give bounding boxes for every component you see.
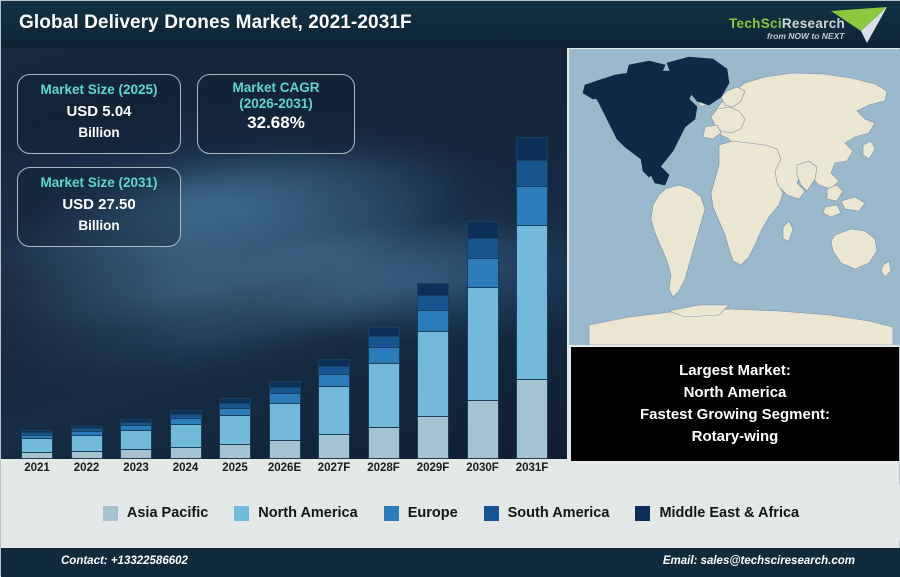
legend-item-asia-pacific[interactable]: Asia Pacific <box>103 505 208 521</box>
bar-segment-asia-pacific <box>269 440 301 459</box>
x-axis: 202120222023202420252026E2027F2028F2029F… <box>1 459 567 485</box>
legend-swatch-europe <box>384 506 399 521</box>
x-axis-label-2027F: 2027F <box>306 462 362 474</box>
stat-card-market-cagr: Market CAGR (2026-2031) 32.68% <box>197 74 355 154</box>
bar-segment-middle-east-africa <box>467 221 499 238</box>
bar-segment-north-america <box>318 386 350 434</box>
x-axis-label-2029F: 2029F <box>405 462 461 474</box>
bar-segment-europe <box>269 393 301 402</box>
bar-segment-middle-east-africa <box>516 137 548 159</box>
legend-swatch-middle-east-africa <box>635 506 650 521</box>
legend-label-north-america: North America <box>258 505 357 521</box>
bar-segment-north-america <box>417 331 449 415</box>
legend-item-europe[interactable]: Europe <box>384 505 458 521</box>
card-title: Market CAGR <box>198 80 354 96</box>
bar-2023 <box>120 419 152 459</box>
stat-card-market-size-2031: Market Size (2031) USD 27.50 Billion <box>17 167 181 247</box>
card-title: Market Size (2025) <box>18 82 180 98</box>
card-title: Market Size (2031) <box>18 175 180 191</box>
bar-2026E <box>269 381 301 459</box>
bar-segment-north-america <box>120 430 152 449</box>
bar-2029F <box>417 283 449 459</box>
key-insights-box: Largest Market: North America Fastest Gr… <box>571 347 899 461</box>
x-axis-label-2024: 2024 <box>158 462 214 474</box>
largest-market-value: North America <box>684 383 787 403</box>
fastest-segment-value: Rotary-wing <box>692 427 779 447</box>
bar-segment-europe <box>318 374 350 386</box>
bar-segment-middle-east-africa <box>368 327 400 337</box>
bar-2022 <box>71 426 103 459</box>
card-value: USD 27.50 <box>18 196 180 214</box>
bar-segment-asia-pacific <box>71 451 103 459</box>
card-value: 32.68% <box>198 113 354 133</box>
bar-2021 <box>21 430 53 459</box>
bar-segment-north-america <box>269 403 301 440</box>
bar-segment-europe <box>219 408 251 415</box>
bar-segment-asia-pacific <box>467 400 499 459</box>
legend-label-asia-pacific: Asia Pacific <box>127 505 208 521</box>
bar-segment-asia-pacific <box>417 416 449 459</box>
bar-segment-south-america <box>516 160 548 187</box>
bar-segment-asia-pacific <box>368 427 400 459</box>
bar-segment-europe <box>417 310 449 331</box>
legend-label-europe: Europe <box>408 505 458 521</box>
bar-segment-north-america <box>21 438 53 452</box>
bar-segment-north-america <box>516 225 548 378</box>
logo-wordmark: TechSciResearch <box>729 16 845 31</box>
logo-research: Research <box>782 16 845 31</box>
header-bar: Global Delivery Drones Market, 2021-2031… <box>1 1 900 48</box>
footer-bar: Contact: +13322586602 Email: sales@techs… <box>1 548 900 577</box>
bar-segment-asia-pacific <box>120 449 152 459</box>
bar-segment-north-america <box>170 424 202 447</box>
legend-swatch-south-america <box>484 506 499 521</box>
bar-segment-europe <box>516 186 548 225</box>
legend-item-north-america[interactable]: North America <box>234 505 357 521</box>
legend-label-middle-east-africa: Middle East & Africa <box>659 505 799 521</box>
legend-item-south-america[interactable]: South America <box>484 505 610 521</box>
bar-segment-asia-pacific <box>219 444 251 459</box>
world-map-svg <box>569 49 900 345</box>
logo-techsci: TechSci <box>729 16 782 31</box>
techsci-research-logo[interactable]: TechSciResearch from NOW to NEXT <box>725 4 893 46</box>
x-axis-label-2026E: 2026E <box>257 462 313 474</box>
bar-2024 <box>170 410 202 459</box>
bar-segment-asia-pacific <box>170 447 202 459</box>
x-axis-label-2022: 2022 <box>59 462 115 474</box>
card-unit: Billion <box>18 125 180 141</box>
bar-2027F <box>318 359 350 459</box>
bar-segment-asia-pacific <box>516 379 548 459</box>
bar-2025 <box>219 398 251 459</box>
stat-card-market-size-2025: Market Size (2025) USD 5.04 Billion <box>17 74 181 154</box>
bar-segment-south-america <box>368 336 400 347</box>
bar-segment-middle-east-africa <box>417 283 449 296</box>
legend-item-middle-east-africa[interactable]: Middle East & Africa <box>635 505 799 521</box>
card-value: USD 5.04 <box>18 103 180 121</box>
bar-2028F <box>368 327 400 459</box>
legend-swatch-asia-pacific <box>103 506 118 521</box>
fastest-segment-label: Fastest Growing Segment: <box>640 405 830 425</box>
x-axis-label-2031F: 2031F <box>504 462 560 474</box>
bar-segment-europe <box>467 258 499 287</box>
logo-tagline: from NOW to NEXT <box>767 31 844 41</box>
bar-2031F <box>516 137 548 459</box>
legend-label-south-america: South America <box>508 505 610 521</box>
largest-market-label: Largest Market: <box>679 361 791 381</box>
bar-segment-north-america <box>368 363 400 426</box>
bar-segment-asia-pacific <box>21 452 53 459</box>
legend-swatch-north-america <box>234 506 249 521</box>
bar-2030F <box>467 221 499 459</box>
bar-segment-north-america <box>467 287 499 401</box>
card-unit: Billion <box>18 218 180 234</box>
infographic-root: Global Delivery Drones Market, 2021-2031… <box>0 0 900 576</box>
bar-segment-europe <box>368 347 400 363</box>
page-title: Global Delivery Drones Market, 2021-2031… <box>19 12 412 34</box>
world-map <box>569 49 900 345</box>
x-axis-label-2028F: 2028F <box>356 462 412 474</box>
bar-segment-north-america <box>71 435 103 451</box>
bar-segment-asia-pacific <box>318 434 350 459</box>
chart-legend: Asia PacificNorth AmericaEuropeSouth Ame… <box>1 485 900 541</box>
x-axis-label-2030F: 2030F <box>455 462 511 474</box>
bar-segment-south-america <box>467 238 499 258</box>
card-subtitle: (2026-2031) <box>198 96 354 112</box>
bar-segment-south-america <box>318 366 350 374</box>
x-axis-label-2023: 2023 <box>108 462 164 474</box>
bar-segment-south-america <box>417 295 449 310</box>
bar-segment-north-america <box>219 415 251 444</box>
bar-segment-middle-east-africa <box>318 359 350 366</box>
x-axis-label-2021: 2021 <box>9 462 65 474</box>
footer-email: Email: sales@techsciresearch.com <box>663 555 855 567</box>
footer-contact: Contact: +13322586602 <box>61 555 188 567</box>
x-axis-label-2025: 2025 <box>207 462 263 474</box>
